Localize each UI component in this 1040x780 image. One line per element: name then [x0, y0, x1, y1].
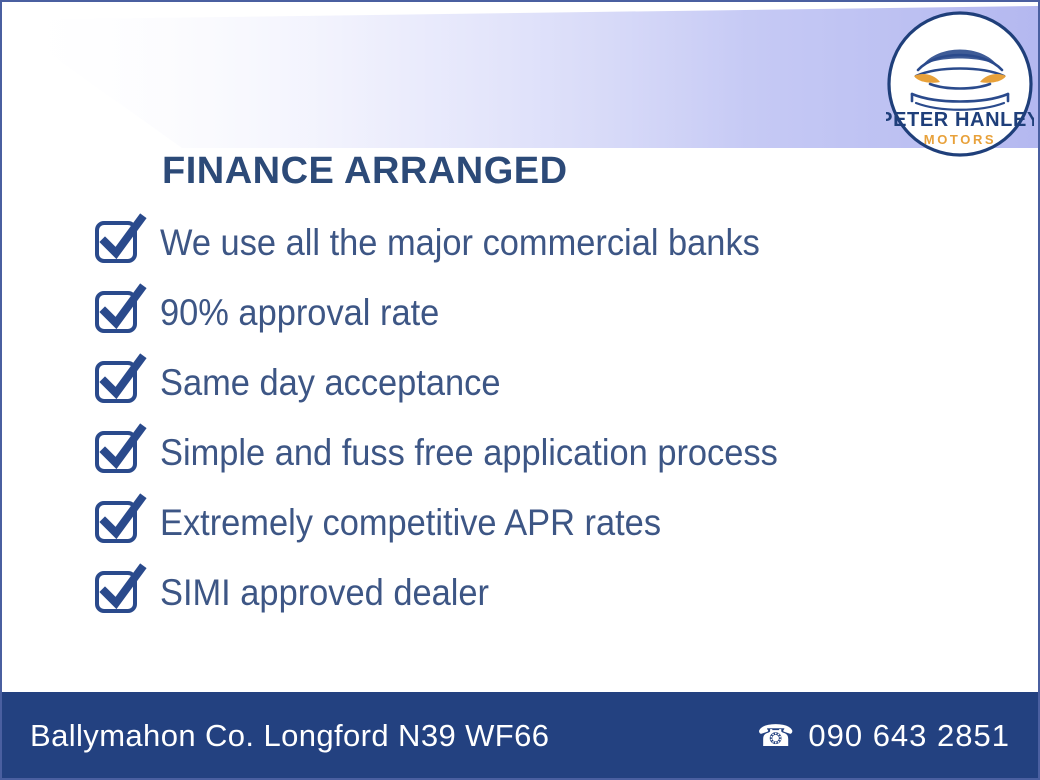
checked-checkbox-icon [92, 283, 148, 339]
benefits-checklist: We use all the major commercial banks 90… [92, 208, 992, 628]
page-title: FINANCE ARRANGED [162, 150, 568, 193]
finance-arranged-poster: PETER HANLEY MOTORS FINANCE ARRANGED We … [0, 0, 1040, 780]
list-item: Extremely competitive APR rates [92, 488, 992, 558]
checked-checkbox-icon [92, 493, 148, 549]
list-item-label: SIMI approved dealer [160, 574, 934, 613]
list-item-label: 90% approval rate [160, 294, 934, 333]
list-item-label: Extremely competitive APR rates [160, 504, 934, 543]
list-item: Simple and fuss free application process [92, 418, 992, 488]
brand-logo: PETER HANLEY MOTORS [886, 10, 1034, 158]
list-item: SIMI approved dealer [92, 558, 992, 628]
logo-brand-line2: MOTORS [924, 132, 996, 147]
logo-brand-line1: PETER HANLEY [886, 109, 1034, 131]
checked-checkbox-icon [92, 563, 148, 619]
list-item-label: We use all the major commercial banks [160, 224, 934, 263]
checked-checkbox-icon [92, 213, 148, 269]
phone-contact[interactable]: ☎ 090 643 2851 [757, 718, 1010, 754]
dealer-address: Ballymahon Co. Longford N39 WF66 [30, 718, 549, 754]
phone-number: 090 643 2851 [808, 718, 1010, 754]
telephone-icon: ☎ [757, 722, 794, 752]
list-item: We use all the major commercial banks [92, 208, 992, 278]
list-item: Same day acceptance [92, 348, 992, 418]
checked-checkbox-icon [92, 423, 148, 479]
list-item-label: Simple and fuss free application process [160, 434, 934, 473]
list-item: 90% approval rate [92, 278, 992, 348]
contact-footer-bar: Ballymahon Co. Longford N39 WF66 ☎ 090 6… [0, 692, 1040, 780]
list-item-label: Same day acceptance [160, 364, 934, 403]
checked-checkbox-icon [92, 353, 148, 409]
